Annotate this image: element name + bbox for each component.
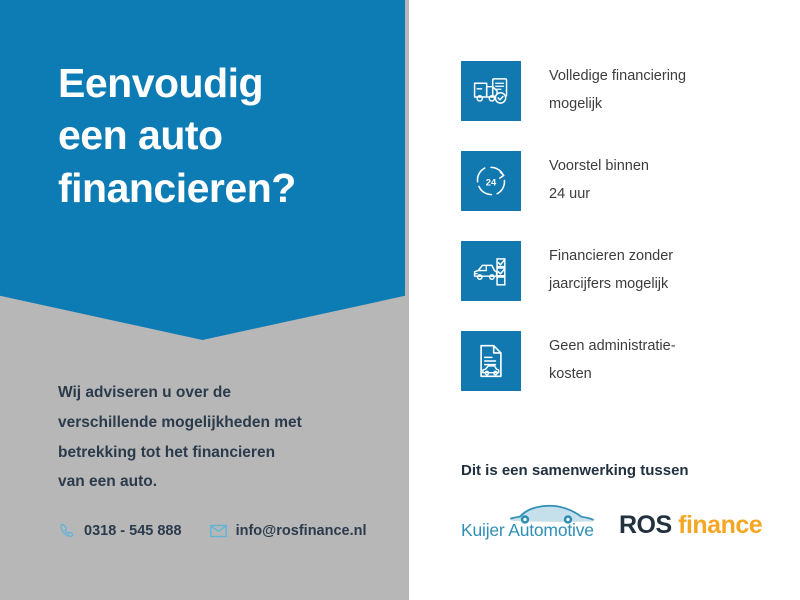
body-copy: Wij adviseren u over de verschillende mo… [58,378,388,497]
headline-line-2: een auto [58,109,388,161]
icon-badge-number: 24 [486,177,497,187]
feature-item: Volledige financiering mogelijk [461,61,791,121]
feature-item: 24 Voorstel binnen 24 uur [461,151,791,211]
feature-list: Volledige financiering mogelijk 24 [461,61,791,421]
feature-label: Geen administratie- kosten [549,333,764,389]
body-line-1: Wij adviseren u over de [58,378,388,408]
feature-label-line-1: Volledige financiering [549,63,764,91]
left-panel: Eenvoudig een auto financieren? Wij advi… [0,0,409,600]
partners-title: Dit is een samenwerking tussen [461,462,791,479]
feature-label-line-1: Voorstel binnen [549,153,764,181]
contact-row: 0318 - 545 888 info@rosfinance.nl [58,522,395,539]
body-line-3: betrekking tot het financieren [58,438,388,468]
feature-item: Financieren zonder jaarcijfers mogelijk [461,241,791,301]
body-line-2: verschillende mogelijkheden met [58,408,388,438]
car-checklist-icon [461,241,521,301]
24-hour-cycle-icon: 24 [461,151,521,211]
logo-ros-word: ROS [619,511,672,539]
logo-ros-finance[interactable]: ROS finance [619,511,762,541]
body-line-4: van een auto. [58,467,388,497]
logo-kuijer-text: Kuijer Automotive [461,520,594,541]
partner-logos: Kuijer Automotive ROS finance [461,501,791,541]
contact-phone[interactable]: 0318 - 545 888 [58,522,182,539]
page-title: Eenvoudig een auto financieren? [58,57,388,214]
envelope-icon [210,522,227,539]
contact-email[interactable]: info@rosfinance.nl [210,522,367,539]
feature-label: Volledige financiering mogelijk [549,63,764,119]
logo-kuijer-automotive[interactable]: Kuijer Automotive [461,501,601,541]
headline-line-3: financieren? [58,162,388,214]
headline-line-1: Eenvoudig [58,57,388,109]
feature-label-line-1: Geen administratie- [549,333,764,361]
feature-label-line-1: Financieren zonder [549,243,764,271]
feature-item: Geen administratie- kosten [461,331,791,391]
feature-label: Voorstel binnen 24 uur [549,153,764,209]
feature-label-line-2: 24 uur [549,181,764,209]
feature-label-line-2: jaarcijfers mogelijk [549,271,764,299]
right-panel: Volledige financiering mogelijk 24 [409,0,800,600]
partners-section: Dit is een samenwerking tussen Kuij [461,462,791,541]
feature-label-line-2: kosten [549,361,764,389]
feature-label-line-2: mogelijk [549,91,764,119]
feature-label: Financieren zonder jaarcijfers mogelijk [549,243,764,299]
truck-document-check-icon [461,61,521,121]
document-car-icon [461,331,521,391]
phone-number: 0318 - 545 888 [84,523,182,539]
email-address: info@rosfinance.nl [236,523,367,539]
phone-icon [58,522,75,539]
logo-finance-word: finance [678,511,762,539]
promotional-poster: Eenvoudig een auto financieren? Wij advi… [0,0,800,600]
